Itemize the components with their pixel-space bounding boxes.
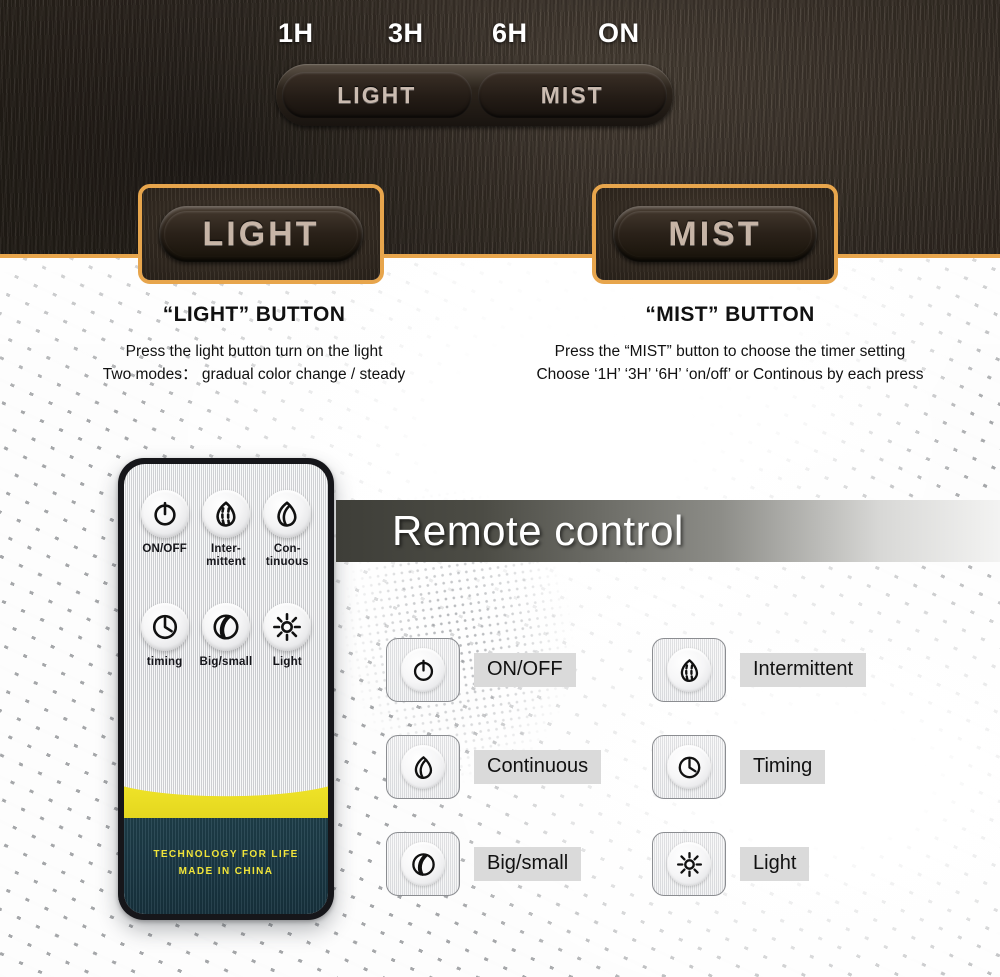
clock-icon (150, 612, 180, 642)
remote-key-intermittent[interactable] (202, 490, 250, 538)
legend-item-timing[interactable]: Timing (652, 735, 918, 799)
legend-label-intermittent: Intermittent (740, 653, 866, 687)
power-icon (410, 657, 437, 684)
remote-key-row-bottom: timing Big/small (124, 603, 328, 669)
callout-light-button: LIGHT (138, 184, 384, 284)
product-infographic: 1H 3H 6H ON LIGHT MIST LIGHT MIST “LIGHT… (0, 0, 1000, 977)
remote-key-row-top: ON/OFF Inter-mitte (124, 490, 328, 569)
legend-label-onoff: ON/OFF (474, 653, 576, 687)
remote-button-legend: ON/OFF Intermittent (386, 638, 986, 929)
legend-item-continuous[interactable]: Continuous (386, 735, 652, 799)
remote-brand-line2: MADE IN CHINA (124, 863, 328, 880)
remote-key-intermittent-label: Inter-mittent (195, 543, 256, 569)
legend-tile-intermittent (652, 638, 726, 702)
legend-row: Big/small (386, 832, 986, 896)
legend-tile-onoff (386, 638, 460, 702)
callout-mist-button: MIST (592, 184, 838, 284)
legend-item-light[interactable]: Light (652, 832, 918, 896)
device-button-pair: LIGHT MIST (276, 64, 673, 126)
remote-key-onoff-label: ON/OFF (134, 543, 195, 556)
remote-keypad: ON/OFF Inter-mitte (124, 490, 328, 670)
device-light-button-label: LIGHT (337, 82, 416, 109)
legend-tile-bigsmall (386, 832, 460, 896)
timer-label-3h: 3H (388, 18, 424, 49)
legend-item-intermittent[interactable]: Intermittent (652, 638, 918, 702)
explanation-light-title: “LIGHT” BUTTON (30, 303, 478, 327)
power-icon (150, 499, 180, 529)
callout-mist-label: MIST (668, 215, 761, 254)
remote-key-continuous-label: Con-tinuous (257, 543, 318, 569)
legend-row: Continuous Timing (386, 735, 986, 799)
explanation-mist-line2: Choose ‘1H’ ‘3H’ ‘6H’ ‘on/off’ or Contin… (480, 364, 980, 387)
remote-control-banner: Remote control (336, 500, 1000, 562)
callout-light-label: LIGHT (203, 215, 320, 254)
timer-label-row: 1H 3H 6H ON (0, 18, 1000, 54)
mist-size-icon (211, 612, 241, 642)
remote-key-continuous[interactable] (263, 490, 311, 538)
legend-tile-light (652, 832, 726, 896)
legend-tile-continuous (386, 735, 460, 799)
explanation-light: “LIGHT” BUTTON Press the light button tu… (30, 303, 478, 387)
sun-icon (676, 851, 703, 878)
remote-control-device: ON/OFF Inter-mitte (118, 458, 334, 920)
legend-label-timing: Timing (740, 750, 825, 784)
sun-icon (272, 612, 302, 642)
remote-key-bigsmall[interactable] (202, 603, 250, 651)
legend-item-bigsmall[interactable]: Big/small (386, 832, 652, 896)
clock-icon (676, 754, 703, 781)
timer-label-6h: 6H (492, 18, 528, 49)
remote-branding: TECHNOLOGY FOR LIFE MADE IN CHINA (124, 846, 328, 880)
intermittent-icon (676, 657, 703, 684)
remote-brand-line1: TECHNOLOGY FOR LIFE (124, 846, 328, 863)
legend-item-onoff[interactable]: ON/OFF (386, 638, 652, 702)
remote-key-light[interactable] (263, 603, 311, 651)
continuous-icon (410, 754, 437, 781)
timer-label-on: ON (598, 18, 640, 49)
remote-key-timing[interactable] (141, 603, 189, 651)
explanation-mist-line1: Press the “MIST” button to choose the ti… (480, 341, 980, 364)
remote-key-bigsmall-label: Big/small (195, 656, 256, 669)
remote-key-timing-label: timing (134, 656, 195, 669)
banner-title: Remote control (392, 507, 684, 555)
legend-label-continuous: Continuous (474, 750, 601, 784)
device-mist-button-label: MIST (541, 82, 604, 109)
explanation-light-line1: Press the light button turn on the light (30, 341, 478, 364)
intermittent-icon (211, 499, 241, 529)
callout-mist-pill[interactable]: MIST (613, 206, 818, 261)
remote-key-onoff[interactable] (141, 490, 189, 538)
continuous-icon (272, 499, 302, 529)
remote-faceplate: ON/OFF Inter-mitte (124, 464, 328, 914)
remote-yellow-wave (124, 778, 328, 818)
device-light-button[interactable]: LIGHT (282, 72, 472, 118)
legend-label-bigsmall: Big/small (474, 847, 581, 881)
device-mist-button[interactable]: MIST (478, 72, 668, 118)
explanation-light-line2: Two modes： gradual color change / steady (30, 364, 478, 387)
legend-label-light: Light (740, 847, 809, 881)
explanation-mist: “MIST” BUTTON Press the “MIST” button to… (480, 303, 980, 387)
timer-label-1h: 1H (278, 18, 314, 49)
remote-key-light-label: Light (257, 656, 318, 669)
legend-row: ON/OFF Intermittent (386, 638, 986, 702)
mist-size-icon (410, 851, 437, 878)
legend-tile-timing (652, 735, 726, 799)
explanation-mist-title: “MIST” BUTTON (480, 303, 980, 327)
callout-light-pill[interactable]: LIGHT (159, 206, 364, 261)
